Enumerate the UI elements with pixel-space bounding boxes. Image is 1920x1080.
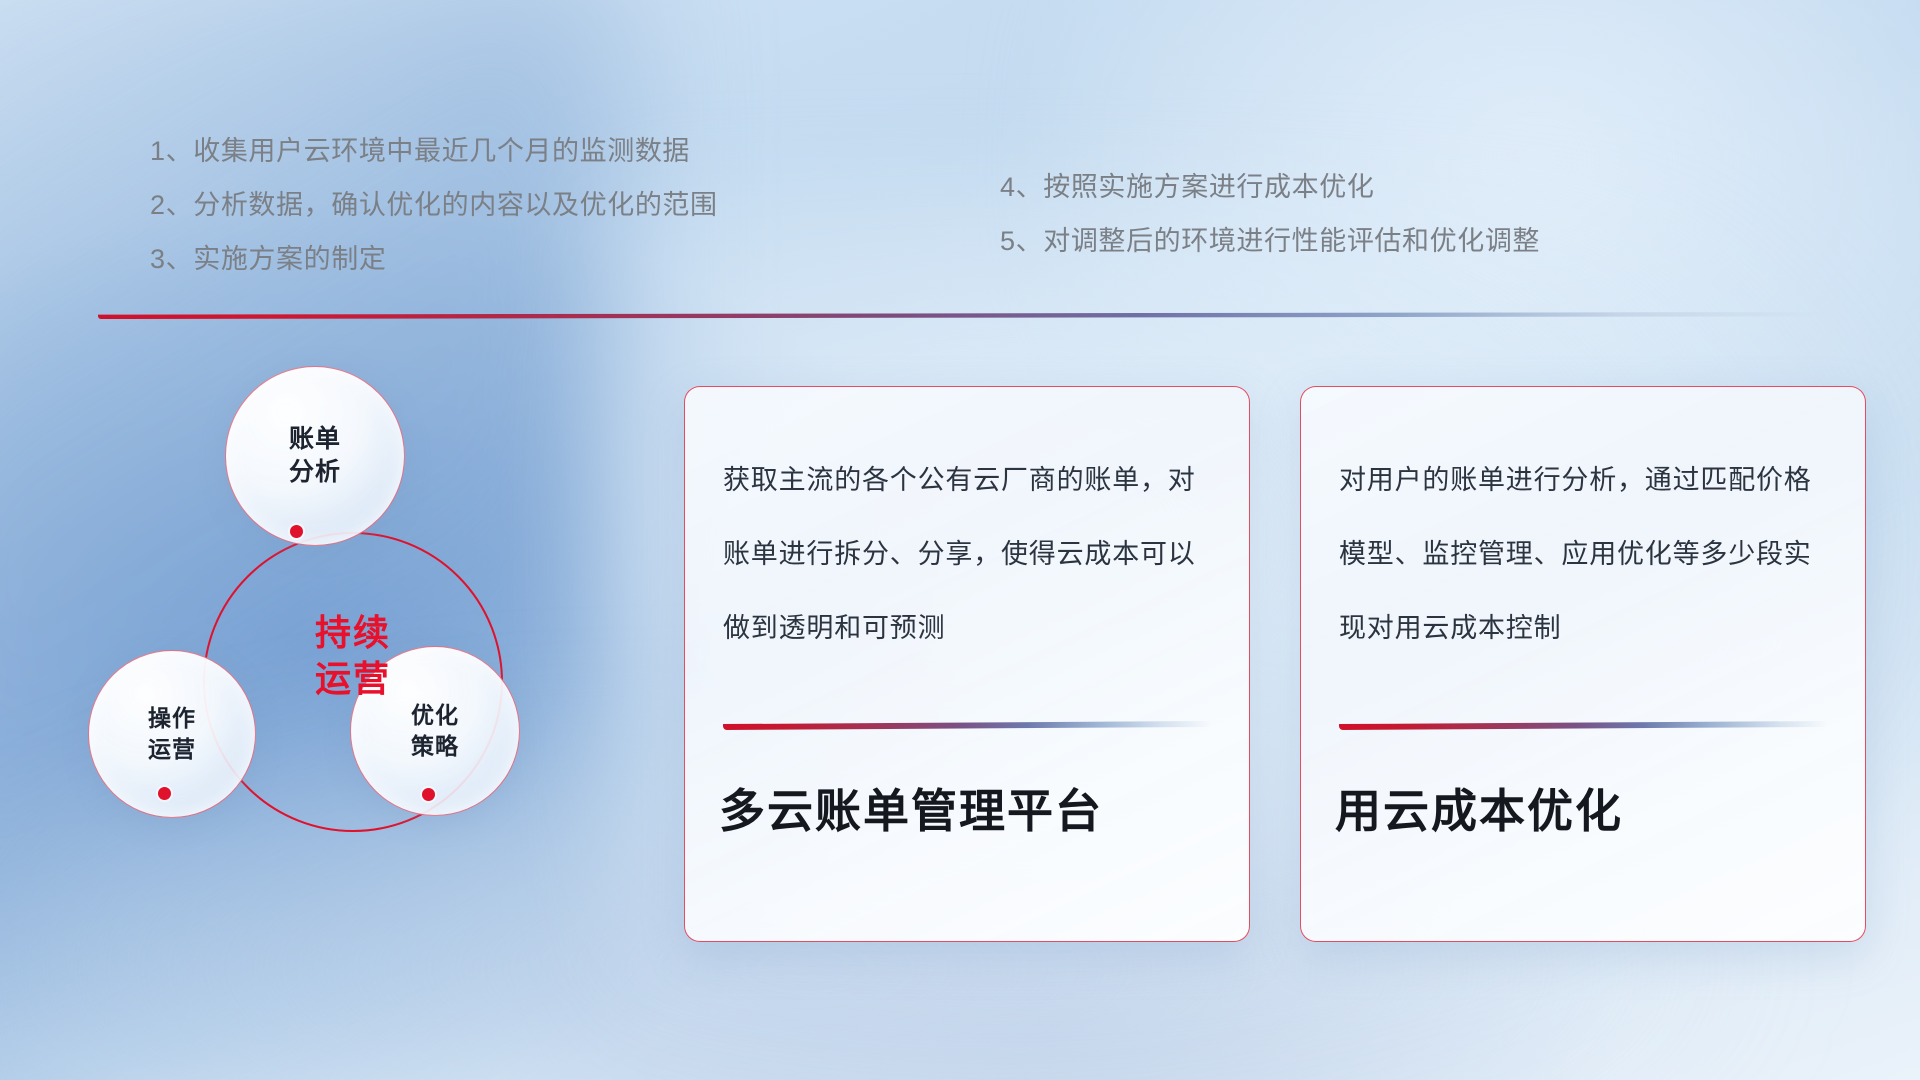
bubble-operations-line1: 操作 [148, 703, 196, 734]
bubble-bill-analysis-line1: 账单 [289, 423, 341, 457]
card-multi-cloud-billing-divider [723, 721, 1213, 730]
step-item-2: 2、分析数据，确认优化的内容以及优化的范围 [150, 178, 718, 232]
card-cloud-cost-optimization-body: 对用户的账单进行分析，通过匹配价格模型、监控管理、应用优化等多少段实现对用云成本… [1339, 443, 1835, 665]
bubble-operations-line2: 运营 [148, 734, 196, 765]
diagram-center-label: 持续 运营 [203, 610, 503, 702]
connector-dot-bottom-left [158, 787, 171, 800]
card-cloud-cost-optimization[interactable]: 对用户的账单进行分析，通过匹配价格模型、监控管理、应用优化等多少段实现对用云成本… [1300, 386, 1866, 942]
step-item-3: 3、实施方案的制定 [150, 232, 718, 286]
step-item-5: 5、对调整后的环境进行性能评估和优化调整 [1000, 214, 1540, 268]
bubble-optimization-policy-line2: 策略 [411, 731, 459, 762]
card-multi-cloud-billing-title: 多云账单管理平台 [719, 775, 1225, 841]
card-multi-cloud-billing[interactable]: 获取主流的各个公有云厂商的账单，对账单进行拆分、分享，使得云成本可以做到透明和可… [684, 386, 1250, 942]
venn-diagram: 账单 分析 操作 运营 优化 策略 持续 运营 [100, 350, 620, 950]
bubble-optimization-policy-line1: 优化 [411, 700, 459, 731]
step-item-1: 1、收集用户云环境中最近几个月的监测数据 [150, 124, 718, 178]
connector-dot-top [290, 525, 303, 538]
connector-dot-bottom-right [422, 788, 435, 801]
card-multi-cloud-billing-body: 获取主流的各个公有云厂商的账单，对账单进行拆分、分享，使得云成本可以做到透明和可… [723, 443, 1219, 665]
steps-column-left: 1、收集用户云环境中最近几个月的监测数据 2、分析数据，确认优化的内容以及优化的… [150, 124, 718, 286]
card-cloud-cost-optimization-title: 用云成本优化 [1335, 775, 1841, 841]
card-cloud-cost-optimization-divider [1339, 721, 1829, 730]
bubble-bill-analysis-line2: 分析 [289, 456, 341, 490]
diagram-center-label-line2: 运营 [203, 656, 503, 702]
diagram-center-label-line1: 持续 [203, 610, 503, 656]
step-item-4: 4、按照实施方案进行成本优化 [1000, 160, 1540, 214]
steps-column-right: 4、按照实施方案进行成本优化 5、对调整后的环境进行性能评估和优化调整 [1000, 160, 1540, 268]
bubble-bill-analysis[interactable]: 账单 分析 [225, 366, 405, 546]
